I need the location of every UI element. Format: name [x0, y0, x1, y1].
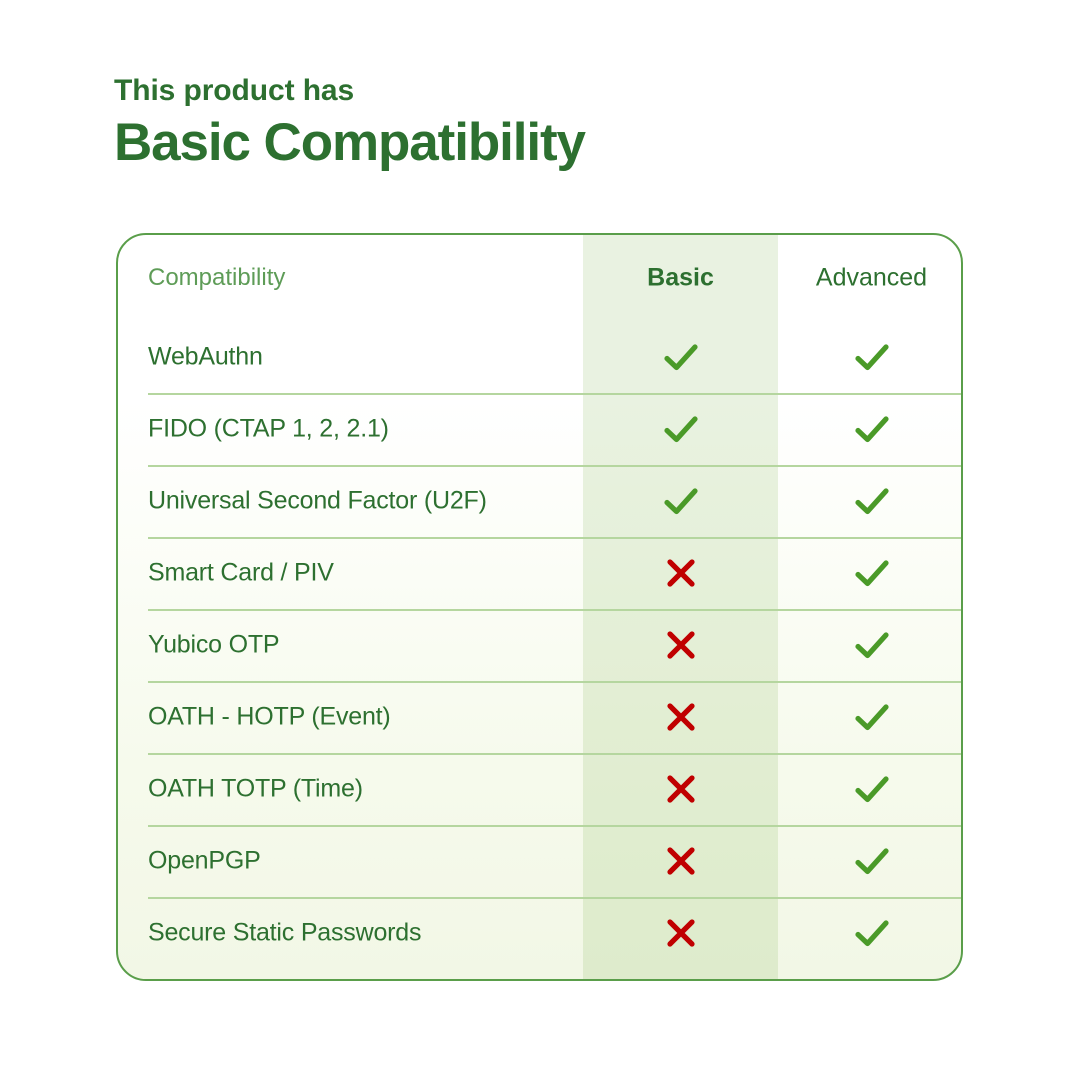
table-row: Universal Second Factor (U2F) — [118, 465, 961, 537]
cell-basic-support — [583, 622, 778, 668]
row-divider — [148, 681, 961, 683]
row-divider — [148, 897, 961, 899]
cross-icon — [658, 622, 704, 668]
checkmark-icon — [849, 478, 895, 524]
cell-advanced-support — [778, 406, 963, 452]
cell-basic-support — [583, 910, 778, 956]
row-divider — [148, 609, 961, 611]
compatibility-table-card: CompatibilityBasicAdvancedWebAuthnFIDO (… — [116, 233, 963, 981]
table-header-row: CompatibilityBasicAdvanced — [118, 235, 961, 321]
column-header-feature: Compatibility — [148, 264, 285, 292]
cell-basic-support — [583, 406, 778, 452]
cell-advanced-support — [778, 622, 963, 668]
row-divider — [148, 393, 961, 395]
cell-basic-support — [583, 334, 778, 380]
cell-basic-support — [583, 478, 778, 524]
table-row: Secure Static Passwords — [118, 897, 961, 969]
checkmark-icon — [658, 334, 704, 380]
row-divider — [148, 537, 961, 539]
row-feature-label: Secure Static Passwords — [148, 919, 421, 948]
table-row: WebAuthn — [118, 321, 961, 393]
cross-icon — [658, 550, 704, 596]
row-feature-label: Smart Card / PIV — [148, 559, 334, 588]
row-feature-label: OATH TOTP (Time) — [148, 775, 363, 804]
table-row: OATH - HOTP (Event) — [118, 681, 961, 753]
row-feature-label: WebAuthn — [148, 343, 263, 372]
checkmark-icon — [849, 622, 895, 668]
checkmark-icon — [849, 910, 895, 956]
checkmark-icon — [849, 406, 895, 452]
cell-advanced-support — [778, 334, 963, 380]
eyebrow-text: This product has — [114, 74, 974, 108]
table-row: OpenPGP — [118, 825, 961, 897]
cell-advanced-support — [778, 694, 963, 740]
compatibility-table: CompatibilityBasicAdvancedWebAuthnFIDO (… — [118, 235, 961, 979]
cell-advanced-support — [778, 550, 963, 596]
cross-icon — [658, 838, 704, 884]
table-row: OATH TOTP (Time) — [118, 753, 961, 825]
cell-advanced-support — [778, 766, 963, 812]
row-divider — [148, 825, 961, 827]
compatibility-infographic: This product has Basic Compatibility Com… — [0, 0, 1080, 1080]
checkmark-icon — [849, 550, 895, 596]
table-row: Yubico OTP — [118, 609, 961, 681]
cell-basic-support — [583, 550, 778, 596]
row-feature-label: OpenPGP — [148, 847, 261, 876]
column-header-basic: Basic — [583, 264, 778, 293]
checkmark-icon — [849, 694, 895, 740]
table-row: FIDO (CTAP 1, 2, 2.1) — [118, 393, 961, 465]
cross-icon — [658, 694, 704, 740]
column-header-advanced: Advanced — [778, 264, 963, 293]
cross-icon — [658, 910, 704, 956]
table-row: Smart Card / PIV — [118, 537, 961, 609]
cell-basic-support — [583, 838, 778, 884]
checkmark-icon — [849, 334, 895, 380]
checkmark-icon — [658, 406, 704, 452]
row-feature-label: OATH - HOTP (Event) — [148, 703, 391, 732]
row-divider — [148, 465, 961, 467]
row-feature-label: Yubico OTP — [148, 631, 279, 660]
page-title: Basic Compatibility — [114, 114, 974, 171]
row-feature-label: Universal Second Factor (U2F) — [148, 487, 487, 516]
heading-block: This product has Basic Compatibility — [114, 74, 974, 171]
cross-icon — [658, 766, 704, 812]
row-divider — [148, 753, 961, 755]
cell-advanced-support — [778, 838, 963, 884]
checkmark-icon — [849, 766, 895, 812]
checkmark-icon — [849, 838, 895, 884]
checkmark-icon — [658, 478, 704, 524]
cell-advanced-support — [778, 910, 963, 956]
cell-basic-support — [583, 766, 778, 812]
cell-basic-support — [583, 694, 778, 740]
cell-advanced-support — [778, 478, 963, 524]
row-feature-label: FIDO (CTAP 1, 2, 2.1) — [148, 415, 389, 444]
